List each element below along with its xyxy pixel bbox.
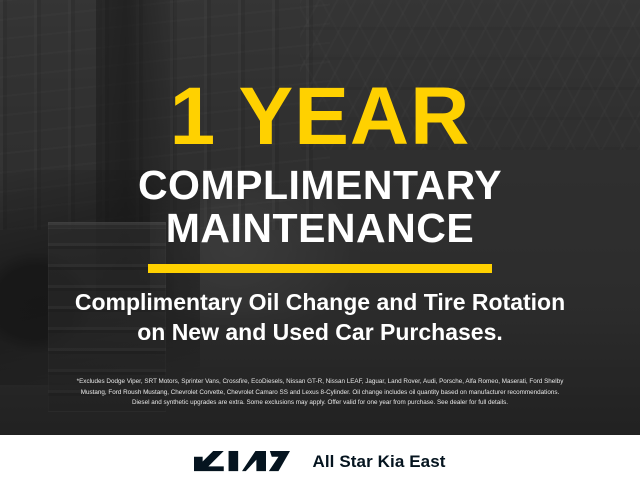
dealer-footer: All Star Kia East [0,435,640,488]
legal-disclaimer: *Excludes Dodge Viper, SRT Motors, Sprin… [14,377,626,409]
yellow-divider-bar [148,264,492,273]
dealer-name: All Star Kia East [312,452,445,472]
disclaimer-line-3: Diesel and synthetic upgrades are extra.… [14,398,626,409]
disclaimer-line-1: *Excludes Dodge Viper, SRT Motors, Sprin… [14,377,626,388]
disclaimer-line-2: Mustang, Ford Roush Mustang, Chevrolet C… [14,388,626,399]
hero-content: 1 YEAR COMPLIMENTARY MAINTENANCE Complim… [0,0,640,435]
subheadline-line-2: on New and Used Car Purchases. [75,317,565,348]
kia-logo [194,450,290,474]
headline-year: 1 YEAR [170,78,471,157]
subheadline: Complimentary Oil Change and Tire Rotati… [75,287,565,348]
promotional-banner: 1 YEAR COMPLIMENTARY MAINTENANCE Complim… [0,0,640,488]
headline-complimentary: COMPLIMENTARY [138,165,502,206]
headline-maintenance: MAINTENANCE [166,208,474,249]
hero-section: 1 YEAR COMPLIMENTARY MAINTENANCE Complim… [0,0,640,435]
subheadline-line-1: Complimentary Oil Change and Tire Rotati… [75,287,565,318]
